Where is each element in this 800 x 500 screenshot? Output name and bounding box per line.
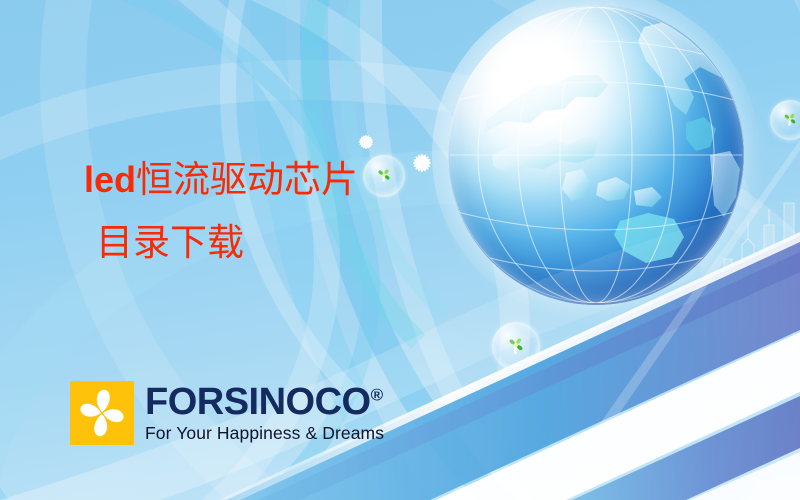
banner-image: led恒流驱动芯片 目录下载 FORSINOCO® For Your Happi… [0,0,800,500]
logo-text-block: FORSINOCO® For Your Happiness & Dreams [145,381,384,443]
forsinoco-petal-mark [70,381,134,445]
four-petal-flower-icon [70,381,134,445]
brand-tagline: For Your Happiness & Dreams [145,423,384,443]
brand-name: FORSINOCO® [145,382,384,422]
headline-latin-prefix: led [84,159,136,200]
brand-name-text: FORSINOCO [145,381,371,423]
forsinoco-logo[interactable]: FORSINOCO® For Your Happiness & Dreams [70,381,384,445]
registered-mark: ® [371,385,384,404]
headline-line-1: led恒流驱动芯片 [84,162,358,199]
headline-line-2: 目录下载 [96,225,358,262]
headline-cjk-1: 恒流驱动芯片 [136,160,358,201]
headline-text: led恒流驱动芯片 目录下载 [84,162,358,262]
